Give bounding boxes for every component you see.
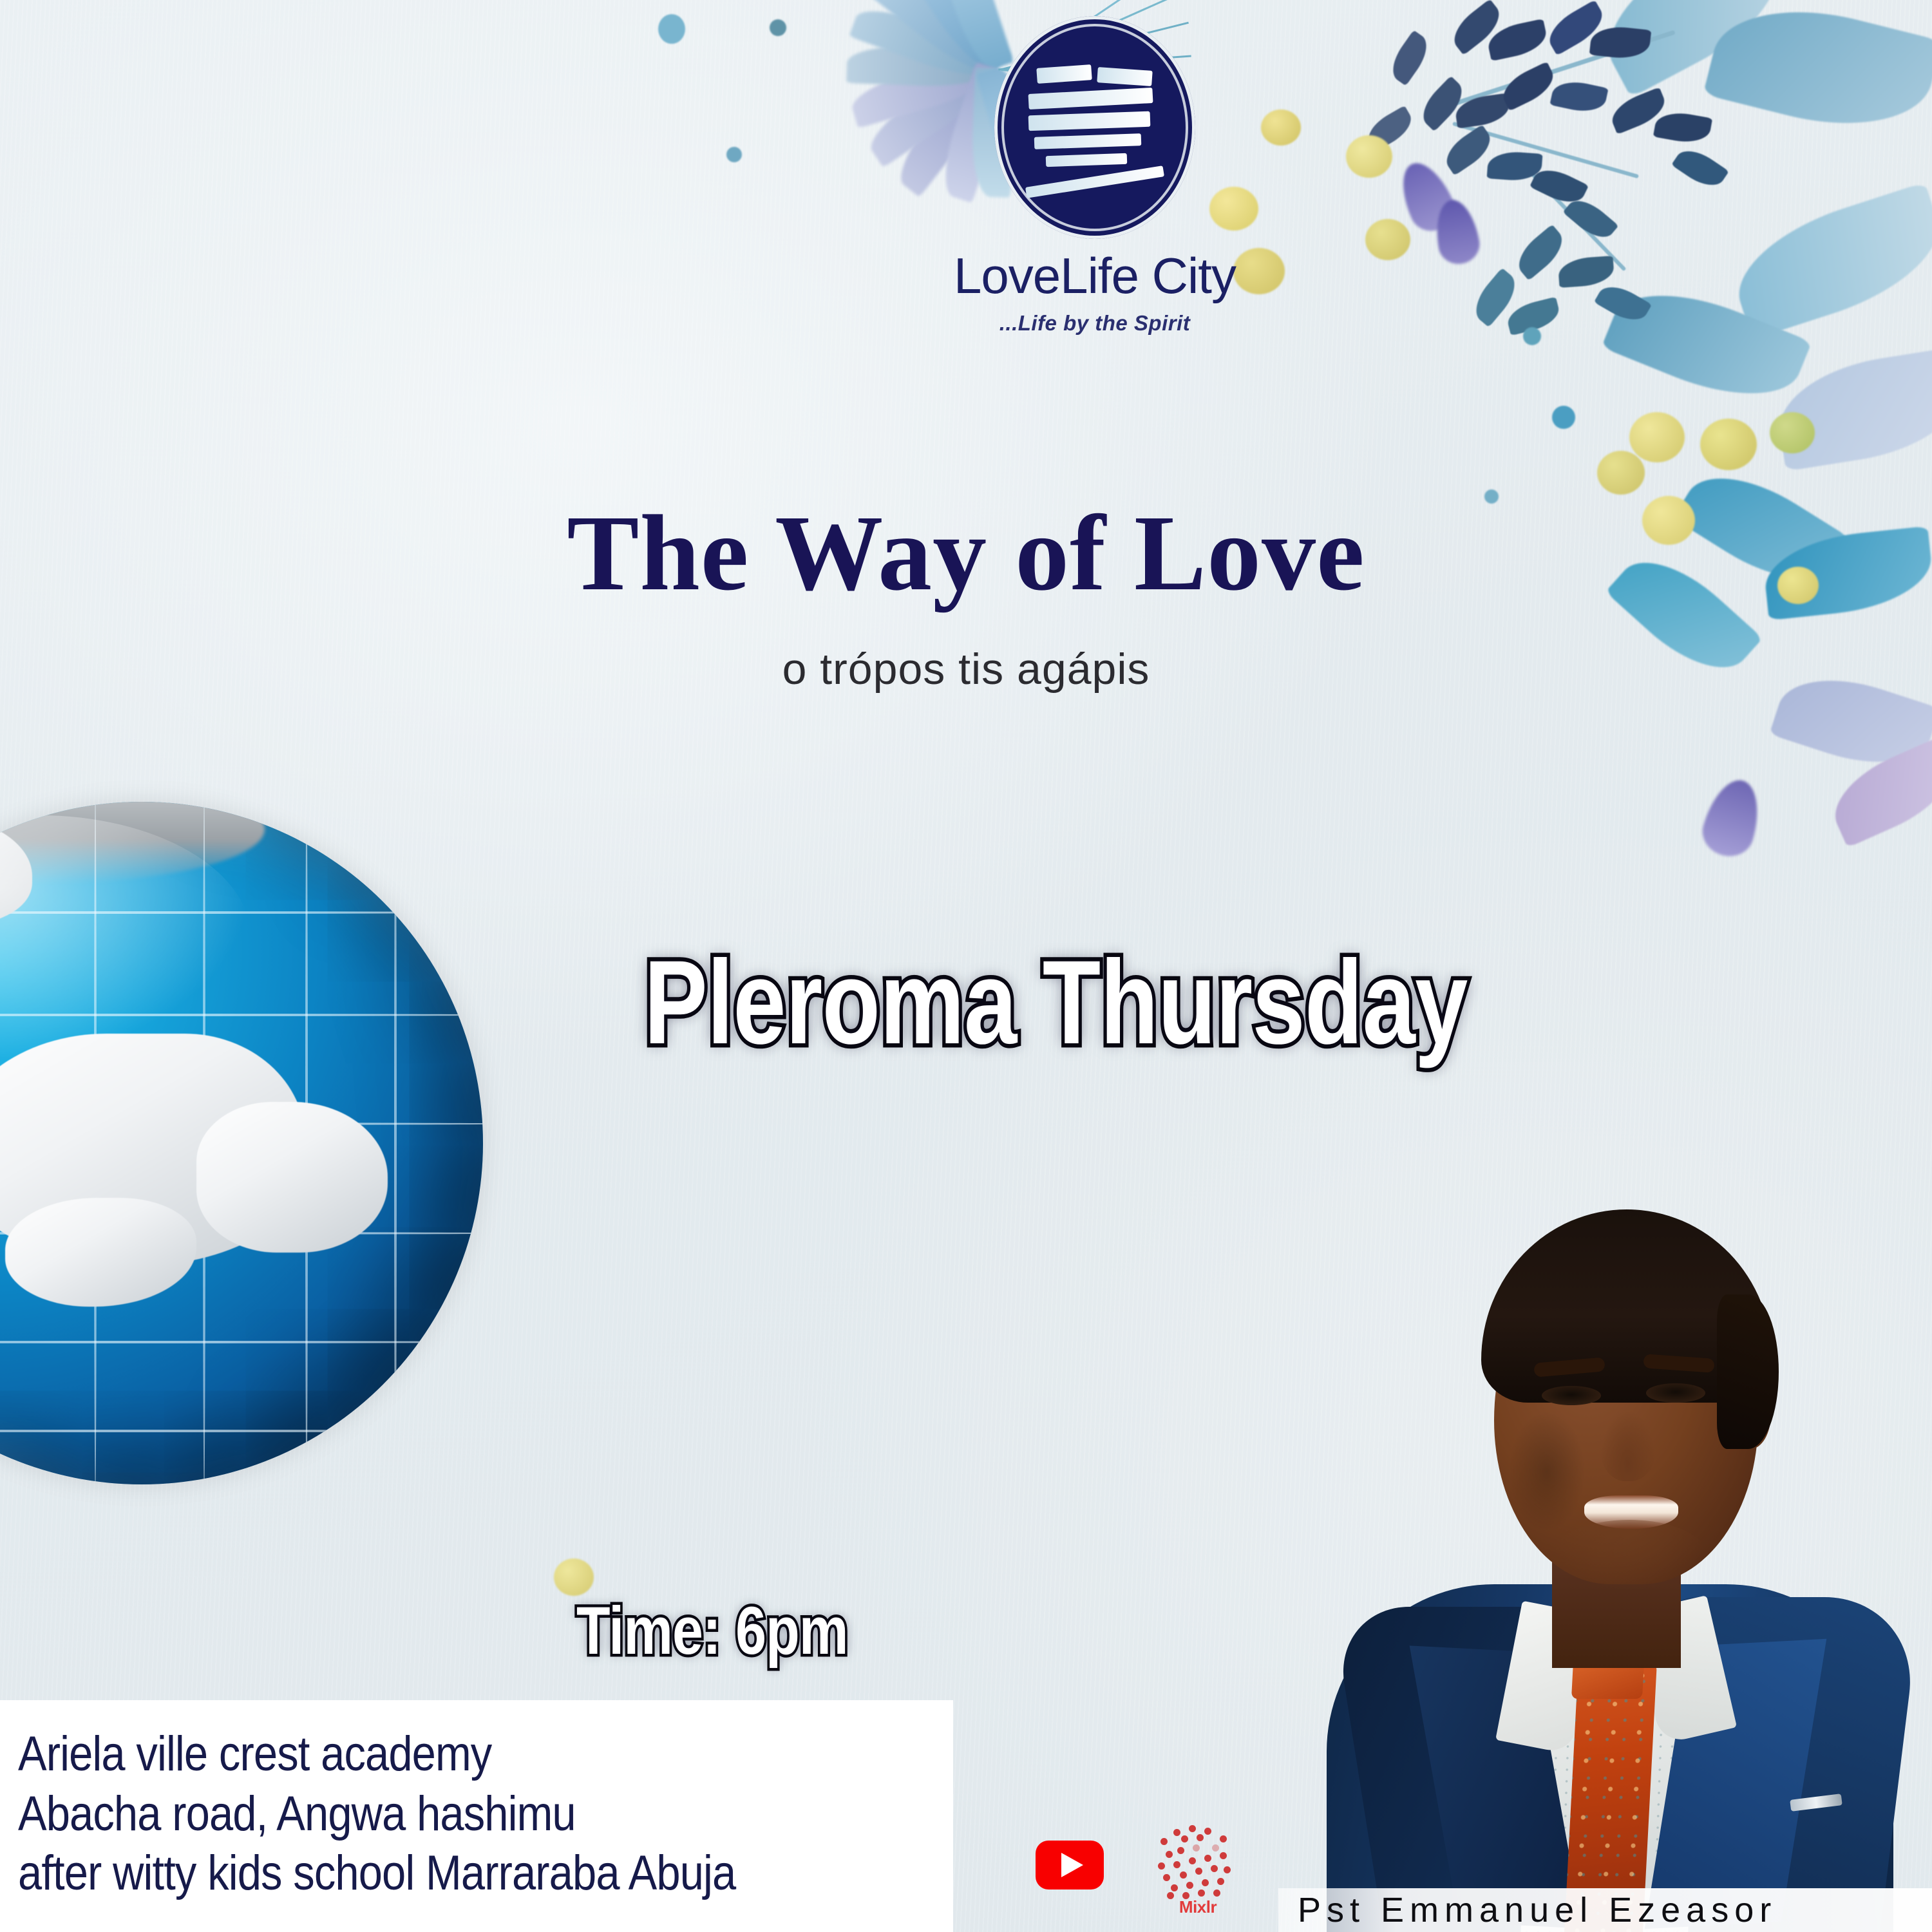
globe-icon [0,802,483,1484]
social-links: Mixlr [1036,1834,1274,1932]
striped-heart-icon [1023,61,1168,199]
mixlr-link[interactable]: Mixlr [1155,1825,1239,1922]
speaker-name: Pst Emmanuel Ezeasor [1278,1890,1777,1930]
speaker-portrait [1282,1133,1932,1932]
venue-address-box: Ariela ville crest academy Abacha road, … [0,1700,953,1932]
venue-line-1: Ariela ville crest academy [18,1725,841,1785]
page-subtitle: o trópos tis agápis [0,644,1932,694]
mixlr-label: Mixlr [1159,1897,1236,1917]
brand-logo-block: LoveLife City ...Life by the Spirit [889,16,1301,336]
brand-tagline: ...Life by the Spirit [889,311,1301,336]
logo-circle [994,16,1195,239]
brand-name: LoveLife City [889,251,1301,301]
speaker-name-band: Pst Emmanuel Ezeasor [1278,1888,1932,1932]
event-name: Pleroma Thursday [644,943,1468,1063]
event-time: Time: 6pm [576,1597,848,1665]
venue-line-2: Abacha road, Angwa hashimu [18,1785,841,1844]
venue-line-3: after witty kids school Marraraba Abuja [18,1844,841,1904]
youtube-icon[interactable] [1036,1841,1104,1889]
page-title: The Way of Love [0,499,1932,607]
mixlr-icon [1155,1825,1233,1895]
event-flyer: LoveLife City ...Life by the Spirit The … [0,0,1932,1932]
